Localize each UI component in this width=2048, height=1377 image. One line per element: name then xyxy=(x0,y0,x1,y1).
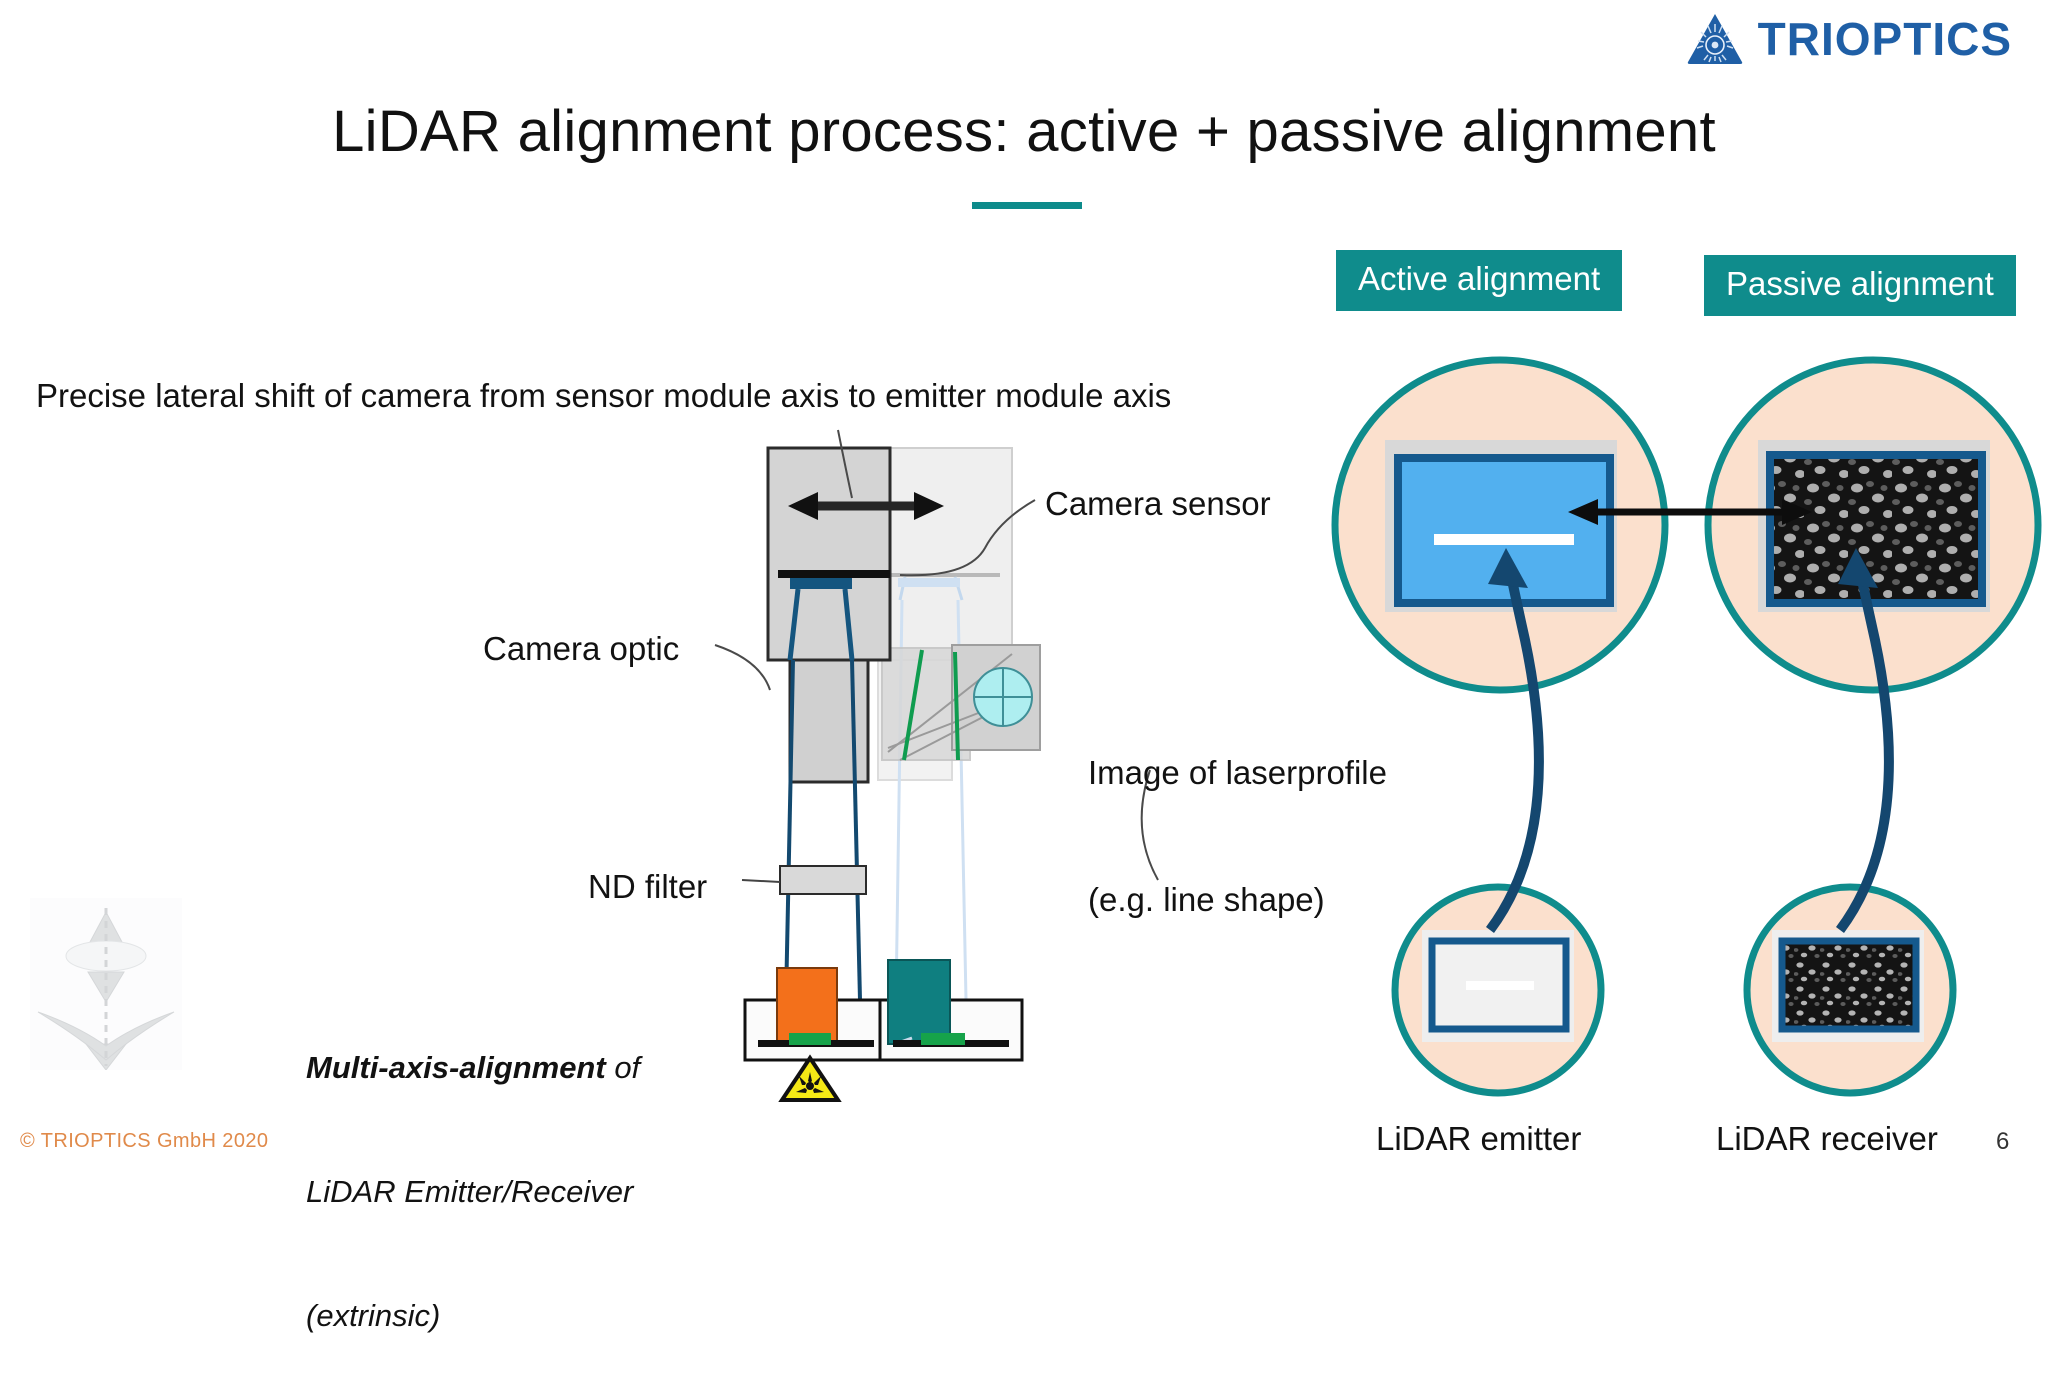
label-multi-axis-alignment: Multi-axis-alignment of LiDAR Emitter/Re… xyxy=(306,965,640,1377)
trioptics-logo: TRIOPTICS xyxy=(1686,12,2012,66)
receiver-to-passive-arrow-icon xyxy=(1838,548,1889,930)
top-insets-link-arrow-icon xyxy=(1568,499,1812,525)
nd-filter-element xyxy=(780,866,866,894)
label-camera-optic: Camera optic xyxy=(483,628,679,670)
label-precise-lateral-shift: Precise lateral shift of camera from sen… xyxy=(36,375,1171,417)
multi-axis-line-3: (extrinsic) xyxy=(306,1295,640,1336)
label-lidar-emitter: LiDAR emitter xyxy=(1376,1118,1581,1160)
multi-axis-line-2: LiDAR Emitter/Receiver xyxy=(306,1171,640,1212)
label-nd-filter: ND filter xyxy=(588,866,707,908)
leader-camera-optic xyxy=(715,645,770,690)
multi-axis-line-1: Multi-axis-alignment of xyxy=(306,1047,640,1088)
label-lidar-receiver: LiDAR receiver xyxy=(1716,1118,1938,1160)
page-number: 6 xyxy=(1996,1128,2009,1156)
multi-axis-motion-icon xyxy=(30,898,182,1070)
inset-active-alignment xyxy=(1335,360,1665,690)
trioptics-wordmark: TRIOPTICS xyxy=(1758,12,2012,66)
inset-lidar-receiver xyxy=(1747,887,1953,1093)
laser-hazard-triangle-icon xyxy=(782,1058,838,1100)
trioptics-starburst-triangle-icon xyxy=(1686,12,1744,66)
laser-line-image xyxy=(1434,534,1574,545)
multi-axis-of: of xyxy=(606,1050,640,1085)
badge-passive-alignment: Passive alignment xyxy=(1704,255,2016,316)
emitter-to-active-arrow-icon xyxy=(1488,548,1539,930)
laserprofile-line-2: (e.g. line shape) xyxy=(1088,879,1387,921)
laserprofile-line-1: Image of laserprofile xyxy=(1088,752,1387,794)
inset-passive-alignment xyxy=(1708,360,2038,690)
inset-lidar-emitter xyxy=(1395,887,1601,1093)
label-image-of-laserprofile: Image of laserprofile (e.g. line shape) xyxy=(1088,668,1387,964)
label-camera-sensor: Camera sensor xyxy=(1045,483,1271,525)
multi-axis-emphasis: Multi-axis-alignment xyxy=(306,1050,606,1085)
badge-active-alignment: Active alignment xyxy=(1336,250,1622,311)
copyright-notice: © TRIOPTICS GmbH 2020 xyxy=(20,1130,268,1153)
